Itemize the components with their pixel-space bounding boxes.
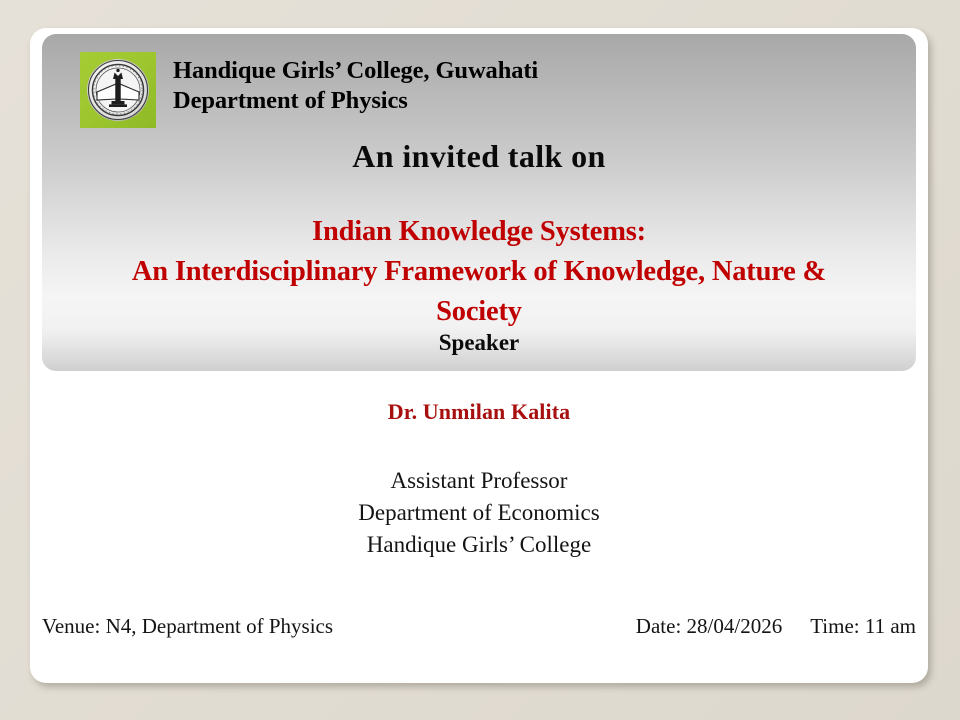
affiliation-line-2: Department of Economics <box>30 497 928 529</box>
speaker-label: Speaker <box>42 330 916 356</box>
header-banner: Handique Girls’ College, Guwahati Depart… <box>42 34 916 371</box>
event-time: Time: 11 am <box>810 614 916 639</box>
institution-line-2: Department of Physics <box>173 86 538 116</box>
slide-card: Handique Girls’ College, Guwahati Depart… <box>30 28 928 683</box>
college-logo <box>80 52 156 128</box>
institution-name: Handique Girls’ College, Guwahati Depart… <box>173 56 538 116</box>
speaker-affiliation: Assistant Professor Department of Econom… <box>30 465 928 561</box>
event-date-time: Date: 28/04/2026 Time: 11 am <box>636 614 920 639</box>
event-venue: Venue: N4, Department of Physics <box>38 614 333 639</box>
event-footer: Venue: N4, Department of Physics Date: 2… <box>38 614 920 639</box>
slide-root: Handique Girls’ College, Guwahati Depart… <box>0 0 960 720</box>
talk-title-line-2: An Interdisciplinary Framework of Knowle… <box>66 252 892 292</box>
college-seal-icon <box>87 59 149 121</box>
talk-title-line-1: Indian Knowledge Systems: <box>66 212 892 252</box>
event-date: Date: 28/04/2026 <box>636 614 782 639</box>
institution-line-1: Handique Girls’ College, Guwahati <box>173 56 538 86</box>
speaker-name: Dr. Unmilan Kalita <box>30 399 928 425</box>
affiliation-line-3: Handique Girls’ College <box>30 529 928 561</box>
talk-title: Indian Knowledge Systems: An Interdiscip… <box>66 212 892 332</box>
invited-talk-line: An invited talk on <box>42 138 916 175</box>
affiliation-line-1: Assistant Professor <box>30 465 928 497</box>
talk-title-line-3: Society <box>66 292 892 332</box>
